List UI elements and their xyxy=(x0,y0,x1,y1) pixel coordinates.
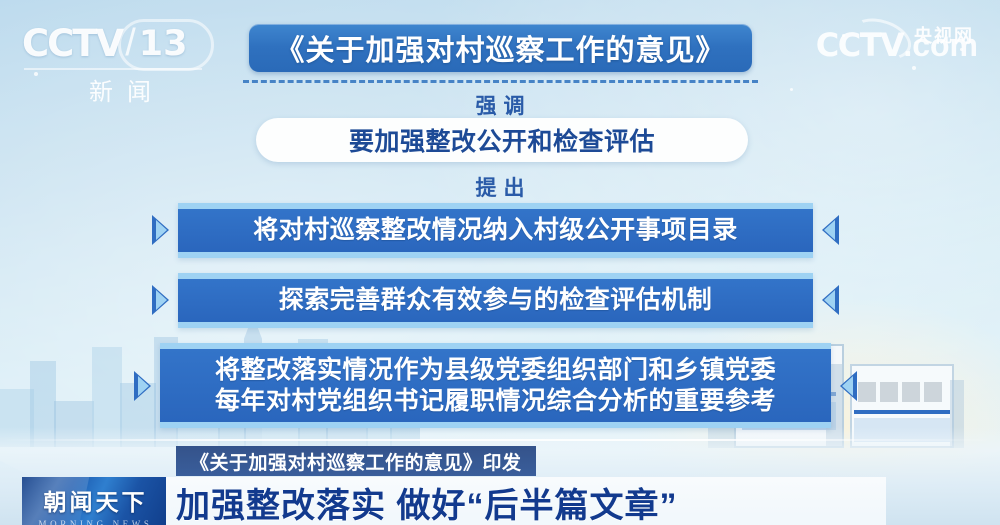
sparkle xyxy=(912,66,916,70)
bullet-bar-1-line-1: 将对村巡察整改情况纳入村级公开事项目录 xyxy=(253,215,738,246)
bullet-bar-2-line-1: 探索完善群众有效参与的检查评估机制 xyxy=(279,285,713,316)
bullet-bar-2-frame: 探索完善群众有效参与的检查评估机制 xyxy=(178,273,813,328)
sparkle xyxy=(34,72,38,76)
bullet-bar-3: 将整改落实情况作为县级党委组织部门和乡镇党委 每年对村党组织书记履职情况综合分析… xyxy=(160,343,831,428)
chevron-left-notch xyxy=(138,376,149,396)
connector-label-propose: 提出 xyxy=(0,172,1000,202)
graphic-highlight-text: 要加强整改公开和检查评估 xyxy=(349,122,655,158)
chevron-right-notch xyxy=(824,290,835,310)
program-logo-en: MORNING NEWS xyxy=(22,519,166,525)
channel-logo-ring xyxy=(118,19,214,71)
bullet-bar-1-inner: 将对村巡察整改情况纳入村级公开事项目录 xyxy=(178,209,813,252)
bullet-bar-1: 将对村巡察整改情况纳入村级公开事项目录 xyxy=(178,203,813,258)
subtitle-banner: 《关于加强对村巡察工作的意见》印发 xyxy=(176,446,536,476)
subtitle-text: 《关于加强对村巡察工作的意见》印发 xyxy=(190,448,522,475)
chevron-left-notch xyxy=(156,290,167,310)
watermark-domain: .com xyxy=(903,27,978,64)
connector-label-emphasize: 强调 xyxy=(0,90,1000,120)
headline-text: 加强整改落实 做好“后半篇文章” xyxy=(176,478,677,525)
channel-logo-slash: / xyxy=(125,22,136,65)
graphic-title-box: 《关于加强对村巡察工作的意见》 xyxy=(249,24,752,72)
bullet-bar-1-frame: 将对村巡察整改情况纳入村级公开事项目录 xyxy=(178,203,813,258)
bullet-bar-2-inner: 探索完善群众有效参与的检查评估机制 xyxy=(178,279,813,322)
program-logo: 朝闻天下 MORNING NEWS xyxy=(22,477,166,525)
channel-logo-number: 13 xyxy=(139,24,188,64)
bullet-bar-2: 探索完善群众有效参与的检查评估机制 xyxy=(178,273,813,328)
sparkle xyxy=(960,48,963,51)
channel-logo-divider xyxy=(24,68,202,70)
graphic-highlight-box: 要加强整改公开和检查评估 xyxy=(256,118,748,162)
watermark-cctv-com: 央视网 CCTV .com xyxy=(816,26,978,64)
sparkle xyxy=(842,34,845,37)
chevron-right-notch xyxy=(824,220,835,240)
graphic-title-text: 《关于加强对村巡察工作的意见》 xyxy=(275,27,725,69)
channel-logo-word: CCTV xyxy=(22,22,122,65)
watermark-cn-label: 央视网 xyxy=(914,22,974,48)
horizon-line xyxy=(0,439,1000,441)
program-logo-cn: 朝闻天下 xyxy=(22,483,166,517)
watermark-arc-icon xyxy=(846,11,917,66)
dashed-divider xyxy=(243,80,758,83)
bullet-bar-3-line-1: 将整改落实情况作为县级党委组织部门和乡镇党委 xyxy=(215,355,776,386)
chevron-right-notch xyxy=(842,376,853,396)
chevron-left-notch xyxy=(156,220,167,240)
bullet-bar-3-line-2: 每年对村党组织书记履职情况综合分析的重要参考 xyxy=(215,386,776,417)
watermark-main: CCTV xyxy=(816,26,904,64)
bullet-bar-3-frame: 将整改落实情况作为县级党委组织部门和乡镇党委 每年对村党组织书记履职情况综合分析… xyxy=(160,343,831,428)
broadcast-frame: CCTV / 13 新闻 央视网 CCTV .com 《关于加强对村巡察工作的意… xyxy=(0,0,1000,525)
bullet-bar-3-inner: 将整改落实情况作为县级党委组织部门和乡镇党委 每年对村党组织书记履职情况综合分析… xyxy=(160,349,831,422)
headline-banner: 加强整改落实 做好“后半篇文章” xyxy=(176,480,677,525)
